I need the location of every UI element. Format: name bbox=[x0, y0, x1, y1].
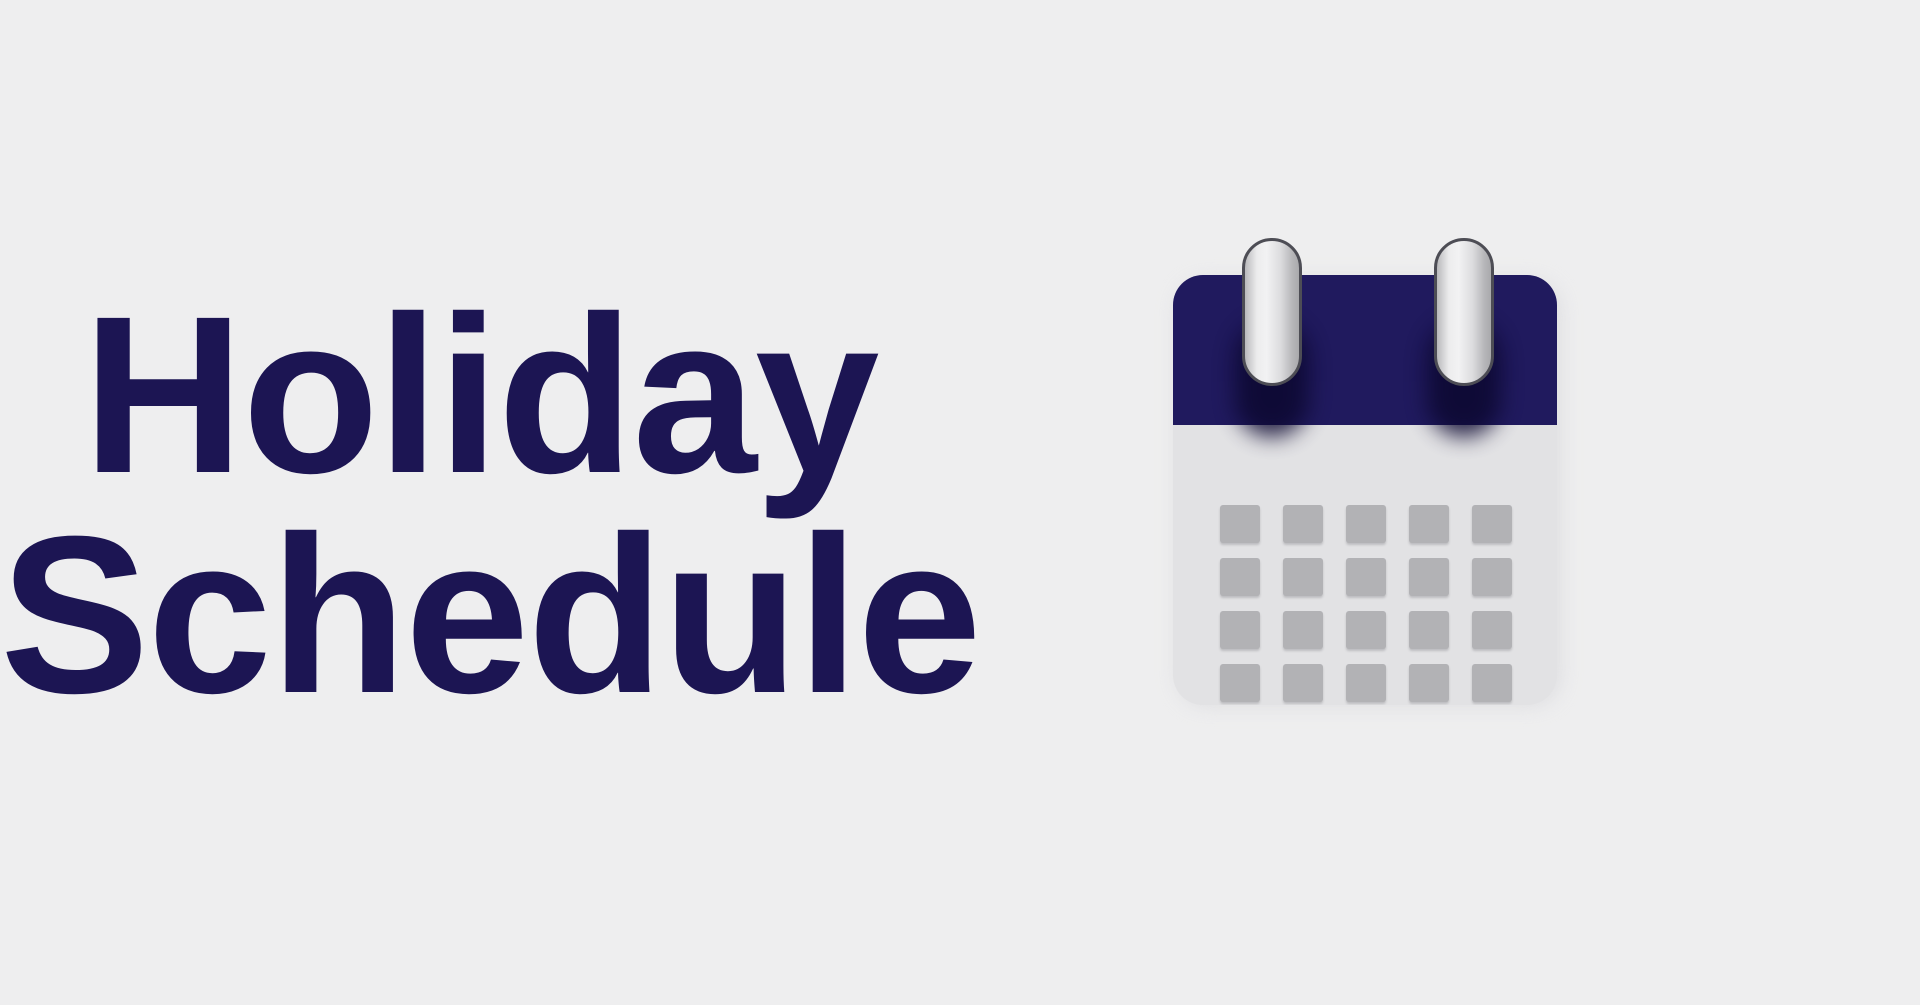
calendar-day-cell bbox=[1346, 505, 1386, 543]
holiday-schedule-banner: Holiday Schedule bbox=[0, 0, 1920, 1005]
calendar-day-cell bbox=[1409, 558, 1449, 596]
calendar-header-band bbox=[1173, 275, 1557, 425]
calendar-day-cell bbox=[1346, 611, 1386, 649]
calendar-binder-ring-right bbox=[1434, 238, 1494, 386]
calendar-day-cell bbox=[1472, 558, 1512, 596]
calendar-day-cell bbox=[1220, 558, 1260, 596]
calendar-day-cell bbox=[1220, 505, 1260, 543]
calendar-day-cell bbox=[1283, 558, 1323, 596]
calendar-day-grid bbox=[1220, 505, 1512, 702]
calendar-day-cell bbox=[1409, 611, 1449, 649]
page-title: Holiday Schedule bbox=[0, 286, 960, 725]
calendar-icon bbox=[1173, 232, 1563, 710]
calendar-day-cell bbox=[1472, 664, 1512, 702]
calendar-binder-ring-left bbox=[1242, 238, 1302, 386]
calendar-day-cell bbox=[1409, 664, 1449, 702]
calendar-day-cell bbox=[1472, 611, 1512, 649]
calendar-day-cell bbox=[1472, 505, 1512, 543]
calendar-day-cell bbox=[1346, 664, 1386, 702]
calendar-day-cell bbox=[1283, 505, 1323, 543]
page-title-line-2: Schedule bbox=[0, 506, 960, 726]
page-title-line-1: Holiday bbox=[0, 286, 960, 506]
calendar-day-cell bbox=[1346, 558, 1386, 596]
calendar-day-cell bbox=[1283, 664, 1323, 702]
calendar-day-cell bbox=[1220, 664, 1260, 702]
calendar-day-cell bbox=[1409, 505, 1449, 543]
calendar-day-cell bbox=[1220, 611, 1260, 649]
calendar-day-cell bbox=[1283, 611, 1323, 649]
calendar-body bbox=[1173, 275, 1557, 705]
